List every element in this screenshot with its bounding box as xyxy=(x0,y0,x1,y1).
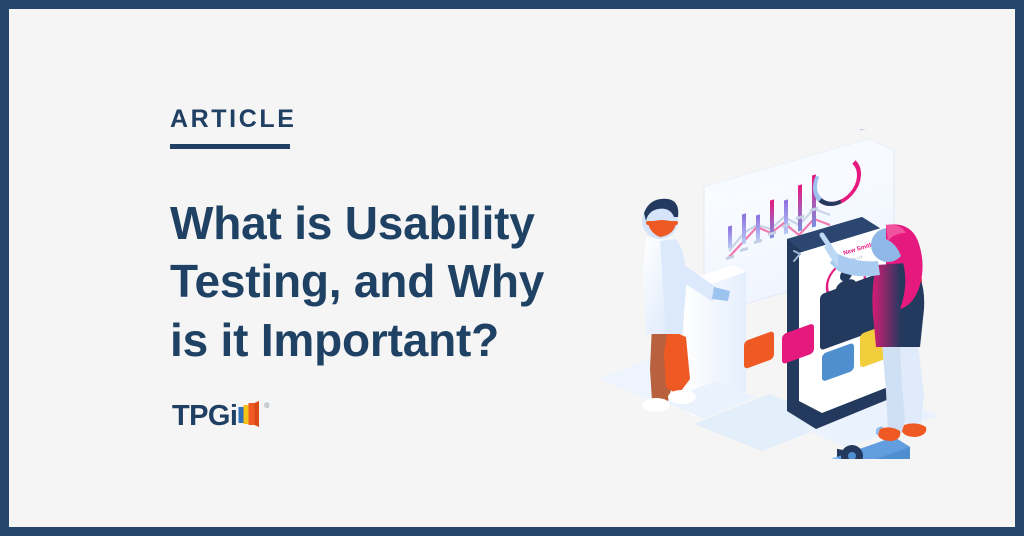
eyebrow-underline xyxy=(170,144,290,149)
chart-legend-chips xyxy=(802,129,876,131)
tpgi-logo[interactable]: TPGi ® xyxy=(172,402,269,431)
logo-door-icon xyxy=(238,401,262,431)
eyebrow-label: ARTICLE xyxy=(170,107,590,132)
logo-wordmark: TPGi xyxy=(172,402,237,431)
registered-trademark-symbol: ® xyxy=(264,403,269,410)
usability-testing-illustration: New Smith Profile UX xyxy=(594,129,994,459)
card-content: ARTICLE What is Usability Testing, and W… xyxy=(9,9,1015,527)
article-card: ARTICLE What is Usability Testing, and W… xyxy=(0,0,1024,536)
text-column: ARTICLE What is Usability Testing, and W… xyxy=(170,107,590,369)
page-title: What is Usability Testing, and Why is it… xyxy=(170,194,570,369)
